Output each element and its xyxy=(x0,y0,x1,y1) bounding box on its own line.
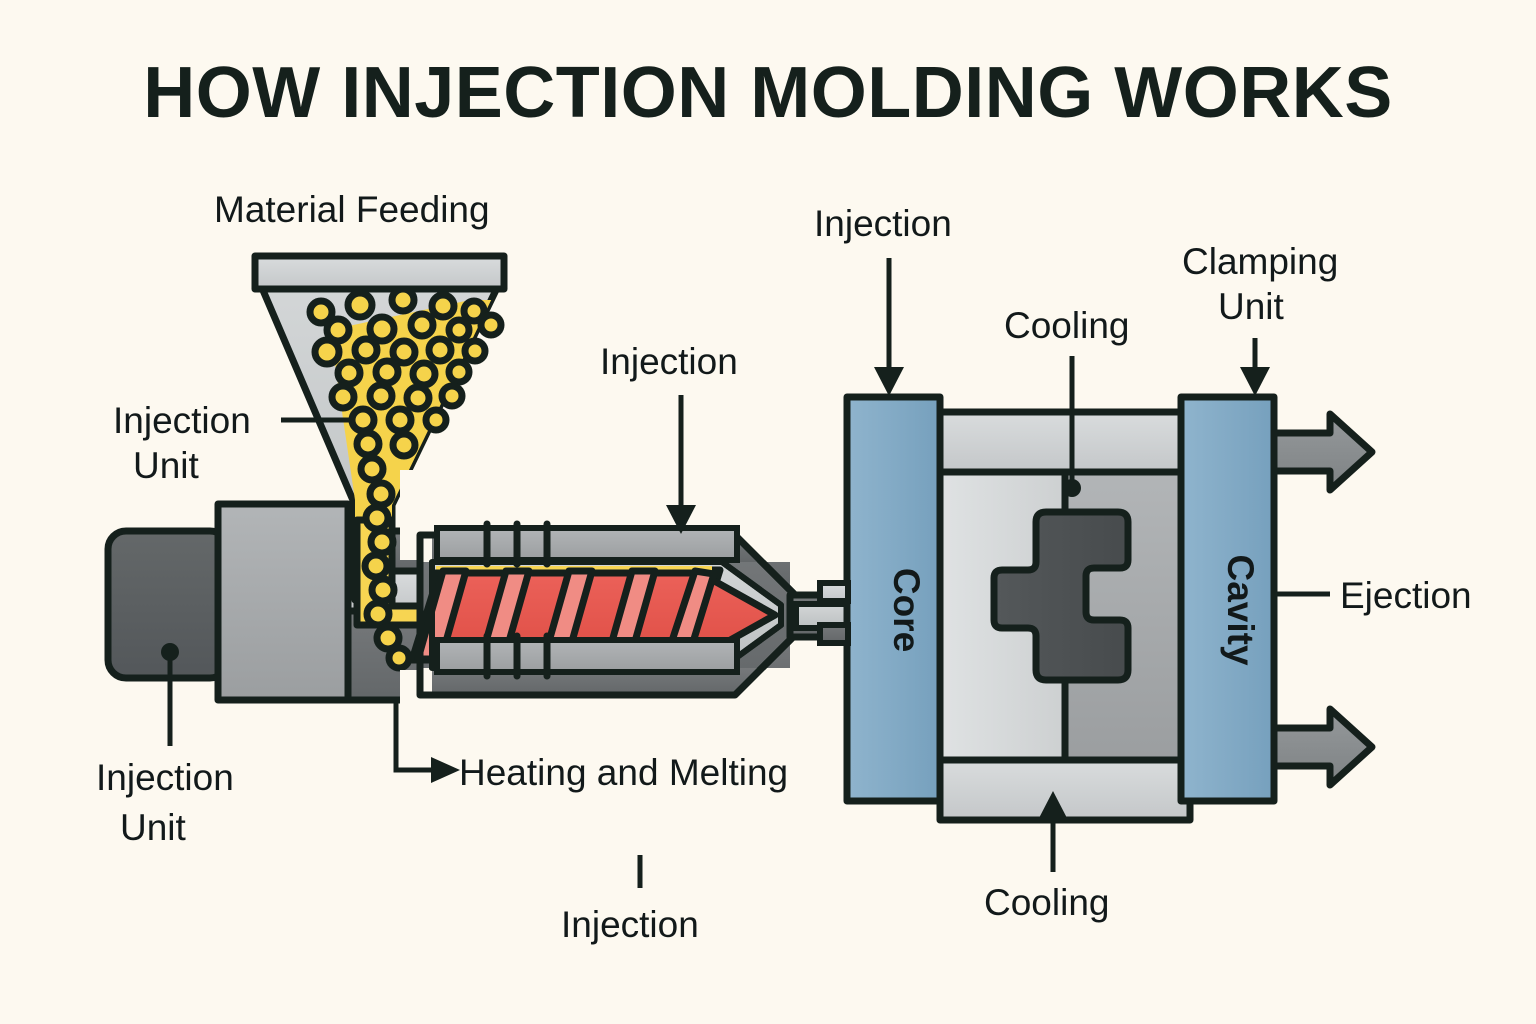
core-plate-label: Core xyxy=(886,568,927,652)
pellet xyxy=(432,295,454,317)
pellet xyxy=(366,507,388,529)
pellet xyxy=(315,340,339,364)
pellet xyxy=(367,603,389,625)
pellet xyxy=(426,410,446,430)
clamping-unit-arrowhead xyxy=(1240,367,1270,396)
clamping-unit-label-line1: Clamping xyxy=(1182,241,1338,282)
pellet xyxy=(393,434,415,456)
pellet xyxy=(393,341,415,363)
cooling-top-dot xyxy=(1063,479,1081,497)
injection-unit-bottom-label-line2: Unit xyxy=(120,807,187,848)
pellet xyxy=(389,648,409,668)
pellet xyxy=(442,386,462,406)
injection-unit-left-label-line2: Unit xyxy=(133,445,200,486)
ejection-arrow-upper xyxy=(1274,414,1372,490)
pellet xyxy=(365,555,387,577)
pellet xyxy=(338,362,360,384)
tie-bar-stub-lower-left xyxy=(820,625,848,643)
hopper-rim xyxy=(255,256,504,289)
pellet xyxy=(376,361,398,383)
pellet xyxy=(449,362,469,382)
pellet xyxy=(355,339,377,361)
pellet xyxy=(357,433,379,455)
heater-band-strip-lower-3 xyxy=(437,640,737,672)
heater-band-strip-upper-3 xyxy=(437,528,737,560)
tie-bar-stub-upper-left xyxy=(820,583,848,601)
cooling-bottom-label: Cooling xyxy=(984,882,1109,923)
pellet xyxy=(465,341,485,361)
mold-top-plate xyxy=(940,412,1190,472)
pellet xyxy=(332,386,354,408)
pellet xyxy=(407,387,429,409)
injection-unit-body xyxy=(218,504,348,700)
diagram-canvas: HOW INJECTION MOLDING WORKS xyxy=(0,0,1536,1024)
injection-unit-left-label-line1: Injection xyxy=(113,400,251,441)
pellet xyxy=(370,483,392,505)
pellet xyxy=(449,320,469,340)
injection-mid-label: Injection xyxy=(600,341,738,382)
pellet xyxy=(371,531,393,553)
injection-bottom-label: Injection xyxy=(561,904,699,945)
pellet xyxy=(429,339,451,361)
pellet xyxy=(348,293,372,317)
pellet xyxy=(411,314,433,336)
injection-molding-diagram: HOW INJECTION MOLDING WORKS xyxy=(0,0,1536,1024)
mold-bottom-plate xyxy=(940,760,1190,820)
pellet xyxy=(361,458,383,480)
pellet xyxy=(413,363,435,385)
pellet xyxy=(481,315,501,335)
ejection-label: Ejection xyxy=(1340,575,1472,616)
heating-melting-label: Heating and Melting xyxy=(459,752,788,793)
pellet xyxy=(372,579,394,601)
clamping-unit-label-line2: Unit xyxy=(1218,286,1285,327)
cooling-top-label: Cooling xyxy=(1004,305,1129,346)
pellet xyxy=(389,409,411,431)
pellet xyxy=(392,289,414,311)
injection-top-right-arrowhead xyxy=(874,367,904,396)
ejection-arrow-lower xyxy=(1274,709,1372,785)
injection-top-right-label: Injection xyxy=(814,203,952,244)
injection-unit-bottom-label-line1: Injection xyxy=(96,757,234,798)
pellet xyxy=(370,385,392,407)
pellet xyxy=(352,409,374,431)
cavity-plate-label: Cavity xyxy=(1220,554,1261,665)
heating-melting-arrowhead xyxy=(431,757,460,783)
material-feeding-label: Material Feeding xyxy=(214,189,490,230)
page-title: HOW INJECTION MOLDING WORKS xyxy=(143,53,1392,133)
pellet xyxy=(370,317,394,341)
